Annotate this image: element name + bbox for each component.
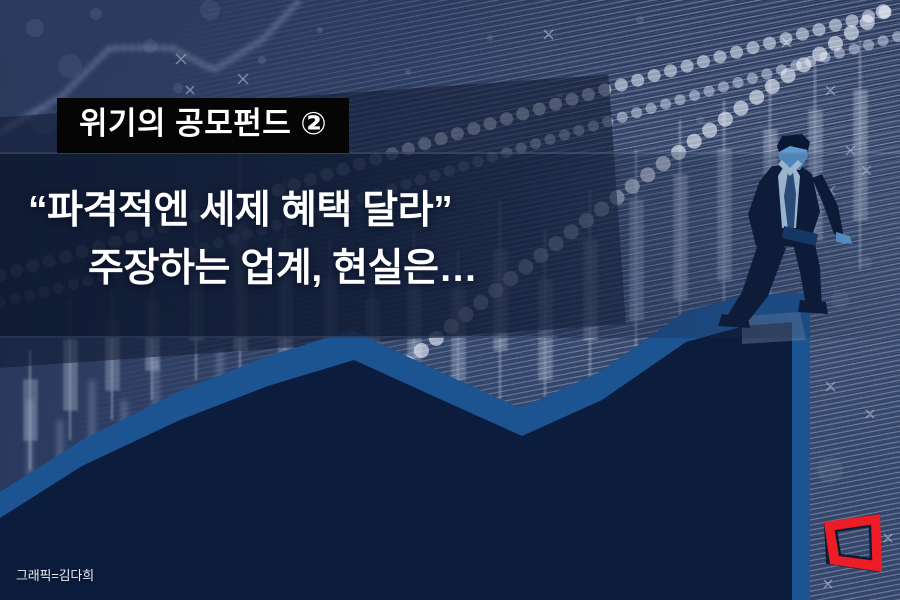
headline-line-2: 주장하는 업계, 현실은… bbox=[0, 240, 640, 298]
headline-line-1: “파격적엔 세제 혜택 달라” bbox=[0, 182, 640, 240]
logo-inner-outline bbox=[836, 526, 871, 559]
series-badge: 위기의 공모펀드 ② bbox=[57, 98, 349, 153]
graphic-credit: 그래픽=김다희 bbox=[16, 565, 94, 584]
news-graphic-card: 위기의 공모펀드 ② “파격적엔 세제 혜택 달라” 주장하는 업계, 현실은…… bbox=[0, 0, 900, 600]
series-badge-label: 위기의 공모펀드 ② bbox=[79, 106, 327, 141]
headline-band-bottom-edge bbox=[0, 336, 558, 338]
headline: “파격적엔 세제 혜택 달라” 주장하는 업계, 현실은… bbox=[0, 182, 640, 297]
logo-red-frame bbox=[824, 514, 882, 572]
publisher-logo-icon[interactable] bbox=[820, 512, 886, 574]
